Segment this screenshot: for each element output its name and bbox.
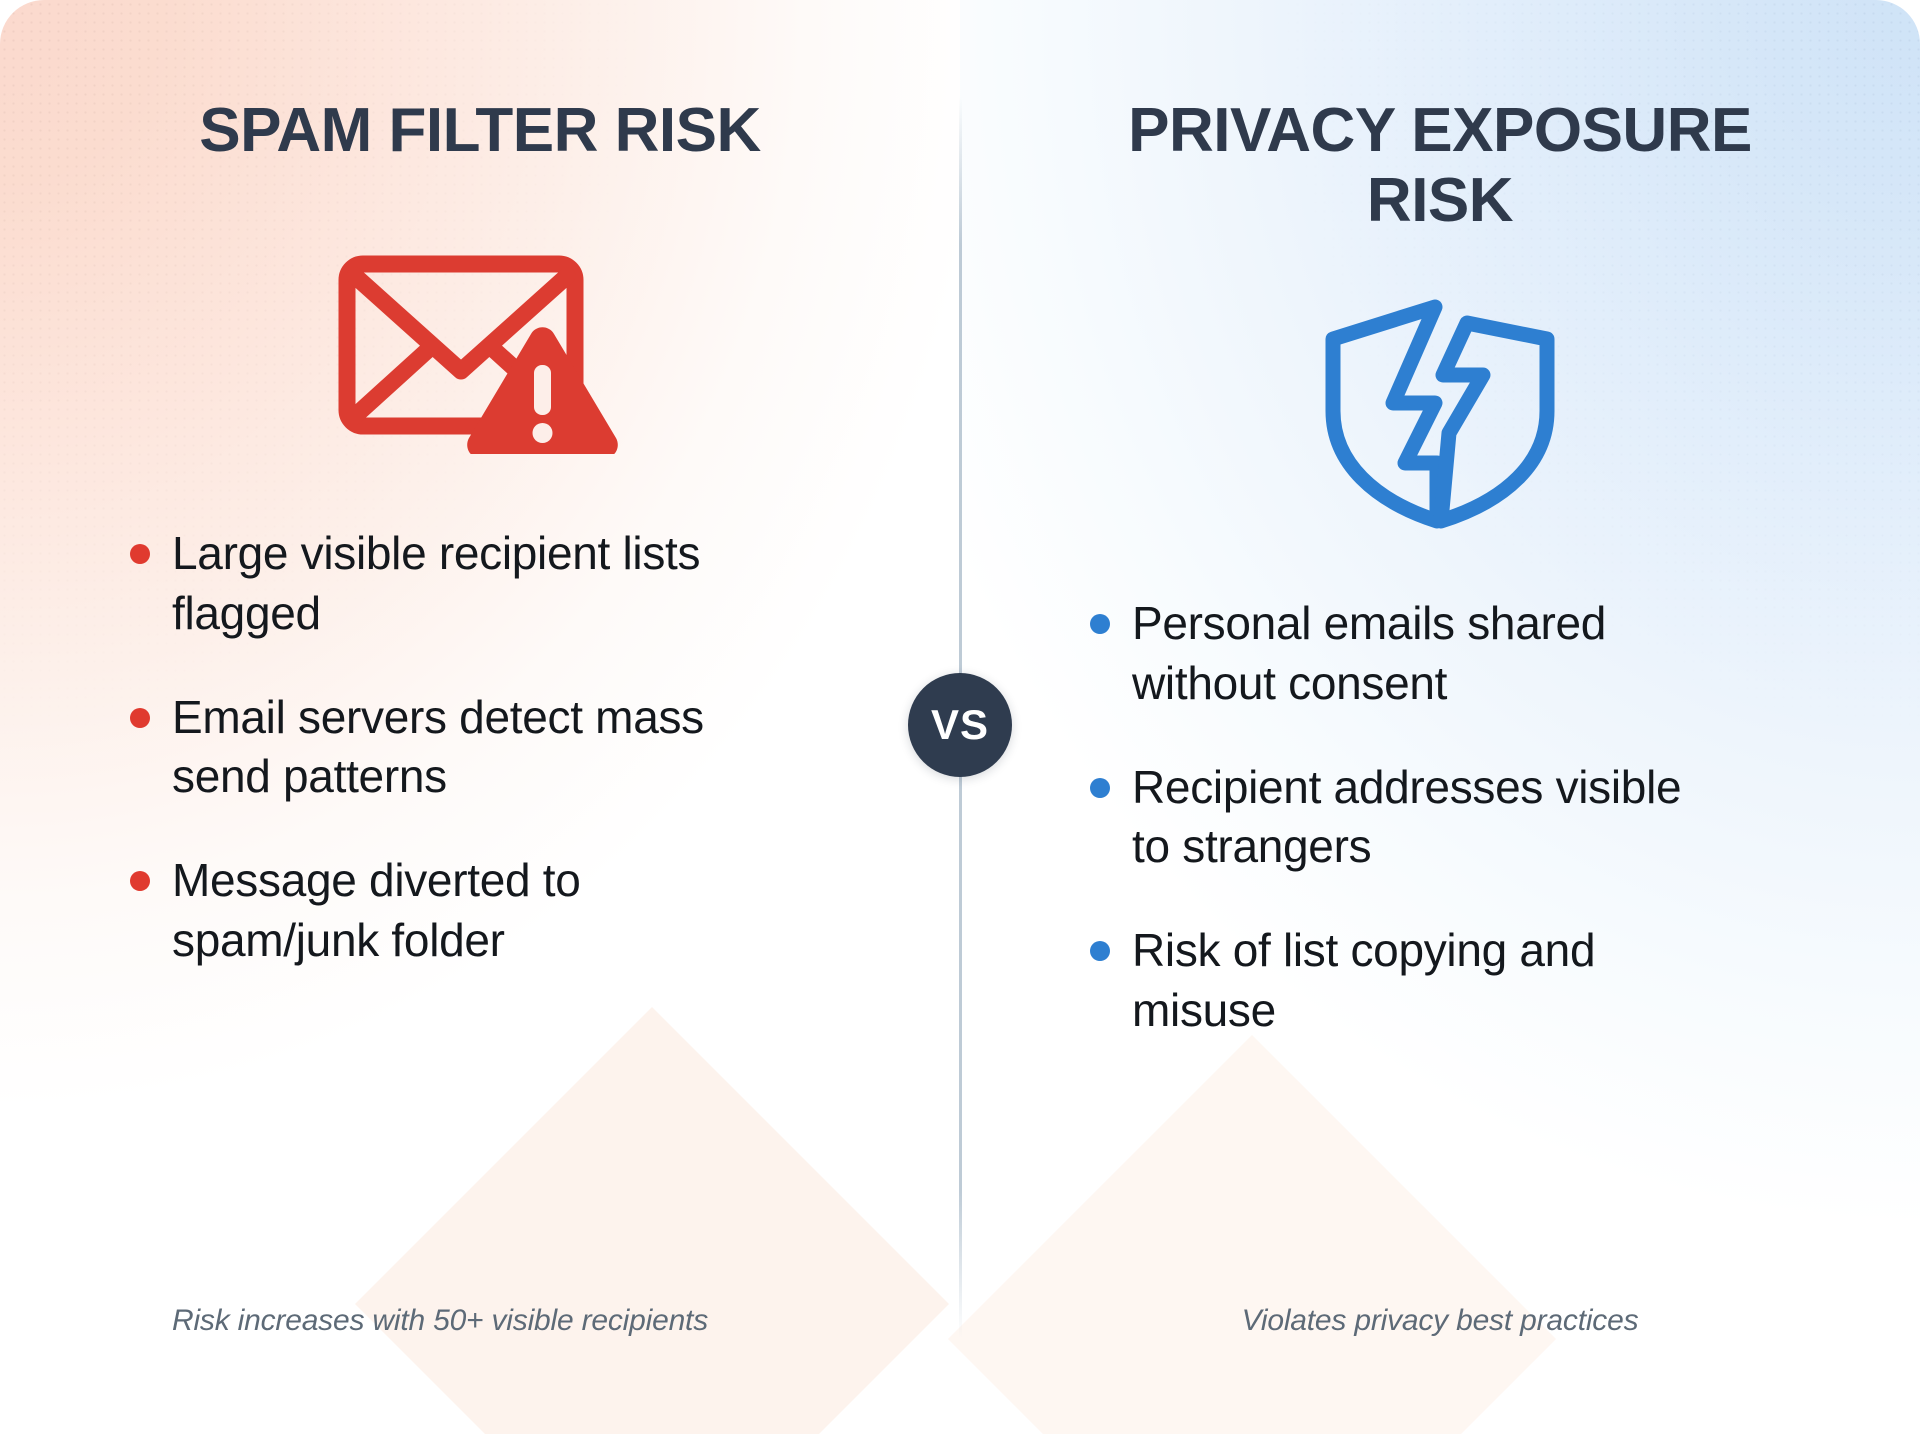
bullet-text: Email servers detect mass send patterns	[172, 688, 770, 808]
bullet-text: Large visible recipient lists flagged	[172, 524, 770, 644]
broken-shield-icon	[1317, 288, 1563, 538]
right-panel-title: PRIVACY EXPOSURE RISK	[1120, 96, 1760, 236]
bullet-dot-icon	[1090, 941, 1110, 961]
left-bullet-list: Large visible recipient lists flagged Em…	[130, 524, 770, 971]
list-item: Email servers detect mass send patterns	[130, 688, 770, 808]
list-item: Large visible recipient lists flagged	[130, 524, 770, 644]
bullet-text: Recipient addresses visible to strangers	[1132, 758, 1730, 878]
list-item: Personal emails shared without consent	[1090, 594, 1730, 714]
bullet-text: Risk of list copying and misuse	[1132, 921, 1730, 1041]
envelope-warning-icon	[335, 218, 625, 468]
bullet-dot-icon	[130, 708, 150, 728]
right-bullet-list: Personal emails shared without consent R…	[1090, 594, 1730, 1041]
bullet-dot-icon	[130, 871, 150, 891]
panel-privacy-exposure-risk: PRIVACY EXPOSURE RISK Personal emails sh…	[960, 0, 1920, 1434]
list-item: Message diverted to spam/junk folder	[130, 851, 770, 971]
bullet-text: Message diverted to spam/junk folder	[172, 851, 770, 971]
vs-badge: VS	[908, 673, 1012, 777]
list-item: Recipient addresses visible to strangers	[1090, 758, 1730, 878]
list-item: Risk of list copying and misuse	[1090, 921, 1730, 1041]
bullet-text: Personal emails shared without consent	[1132, 594, 1730, 714]
panel-spam-filter-risk: SPAM FILTER RISK	[0, 0, 960, 1434]
left-panel-title: SPAM FILTER RISK	[199, 96, 760, 166]
left-panel-footnote: Risk increases with 50+ visible recipien…	[130, 1304, 708, 1338]
comparison-infographic: SPAM FILTER RISK	[0, 0, 1920, 1434]
bullet-dot-icon	[1090, 778, 1110, 798]
bullet-dot-icon	[1090, 614, 1110, 634]
infographic-canvas: SPAM FILTER RISK	[0, 0, 1920, 1434]
bullet-dot-icon	[130, 544, 150, 564]
right-panel-footnote: Violates privacy best practices	[1242, 1304, 1639, 1338]
